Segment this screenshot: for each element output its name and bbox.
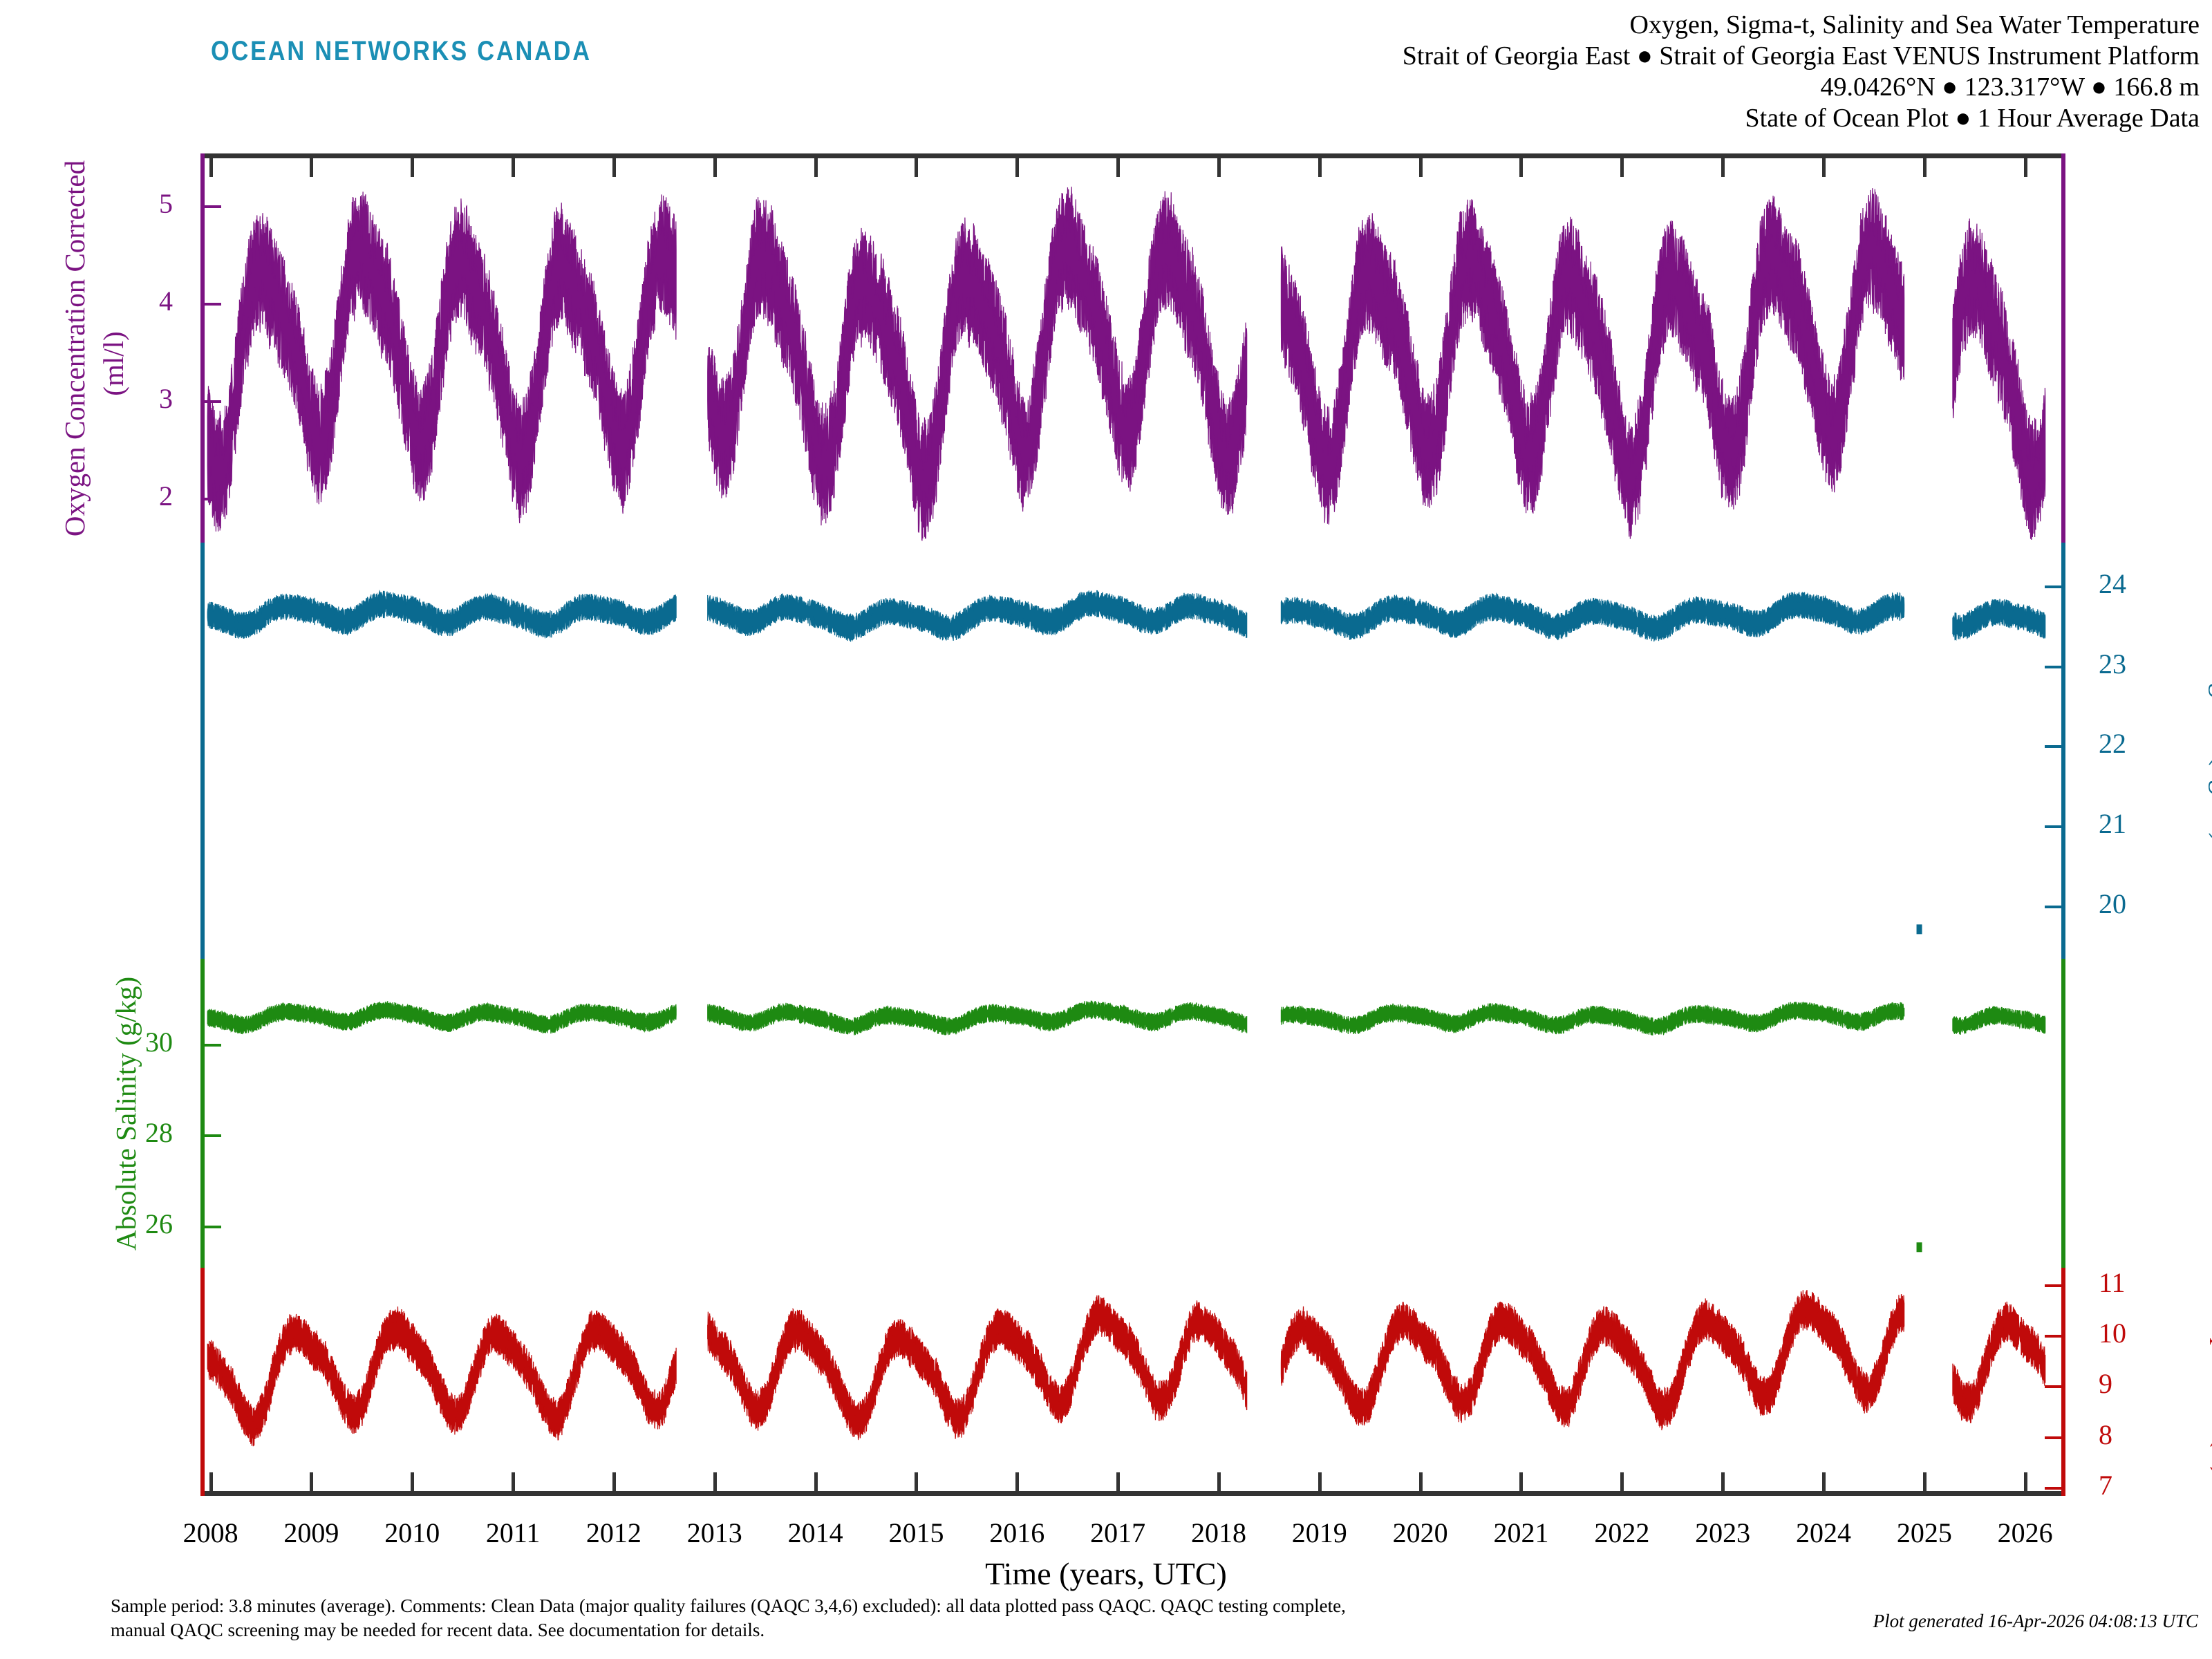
temperature-tick [2045, 1284, 2065, 1287]
plot-top-spine [200, 153, 2065, 158]
oxygen-tick [200, 400, 221, 403]
oxygen-trace [207, 187, 2045, 541]
x-axis-tick [1015, 153, 1019, 177]
sigma_t-tick [2045, 825, 2065, 828]
x-axis-tick-bottom [1015, 1472, 1019, 1496]
sigma_t-axis-spine [2061, 543, 2065, 959]
x-axis-tick [612, 153, 616, 177]
oxygen-tick [200, 303, 221, 306]
temperature-tick-label: 10 [2099, 1317, 2195, 1349]
oxygen-axis-spine [200, 153, 205, 543]
x-axis-tick [411, 153, 414, 177]
x-axis-tick-bottom [411, 1472, 414, 1496]
x-axis-tick-bottom [209, 1472, 213, 1496]
temperature-tick [2045, 1487, 2065, 1490]
sigma_t-series [207, 590, 2045, 934]
x-axis-tick-bottom [612, 1472, 616, 1496]
x-axis-tick [1519, 153, 1523, 177]
x-axis-tick [310, 153, 313, 177]
footnote-text: Sample period: 3.8 minutes (average). Co… [111, 1594, 1346, 1642]
x-axis-tick-bottom [814, 1472, 818, 1496]
chart-title-line-3: 49.0426°N ● 123.317°W ● 166.8 m [1403, 72, 2200, 103]
x-axis-tick-bottom [2024, 1472, 2027, 1496]
sigma_t-tick-label: 22 [2099, 727, 2195, 760]
absolute_salinity-tick [200, 1044, 221, 1047]
sigma_t-tick-label: 20 [2099, 888, 2195, 920]
sigma_t-tick [2045, 666, 2065, 668]
oxygen-tick [200, 205, 221, 208]
absolute_salinity-series [207, 1001, 2045, 1253]
x-axis-tick [1116, 153, 1120, 177]
sigma_t-outlier-point [1917, 924, 1922, 934]
data-series-layer [200, 153, 2065, 1496]
x-axis-tick-bottom [1620, 1472, 1624, 1496]
x-axis-tick-bottom [713, 1472, 717, 1496]
absolute_salinity-tick [200, 1226, 221, 1228]
x-axis-tick [1318, 153, 1322, 177]
x-axis-tick-bottom [1217, 1472, 1221, 1496]
absolute_salinity-axis-spine-mirror [2061, 959, 2065, 1268]
temperature-series [207, 1290, 2045, 1446]
absolute_salinity-tick [200, 1134, 221, 1137]
sigma_t-axis-spine-mirror [200, 543, 205, 959]
x-axis-tick-bottom [1419, 1472, 1423, 1496]
x-axis-tick-bottom [1318, 1472, 1322, 1496]
plot-area [200, 153, 2065, 1496]
sigma_t-tick [2045, 585, 2065, 588]
sigma_t-tick-label: 24 [2099, 568, 2195, 600]
x-axis-tick-bottom [1519, 1472, 1523, 1496]
temperature-axis-title: Temperature (C) [2209, 1288, 2212, 1475]
x-axis-tick [1217, 153, 1221, 177]
x-axis-tick [1721, 153, 1725, 177]
x-axis-tick-label: 2026 [1963, 1517, 2088, 1549]
sigma_t-tick [2045, 906, 2065, 908]
oxygen-tick [200, 498, 221, 500]
temperature-tick-label: 7 [2099, 1469, 2195, 1501]
temperature-tick-label: 11 [2099, 1266, 2195, 1299]
plot-bottom-spine [200, 1491, 2065, 1496]
chart-title-line-1: Oxygen, Sigma-t, Salinity and Sea Water … [1403, 10, 2200, 41]
chart-page: OCEAN NETWORKS CANADA Oxygen, Sigma-t, S… [0, 0, 2212, 1659]
absolute_salinity-outlier-point [1917, 1242, 1922, 1252]
temperature-axis-spine [2061, 1268, 2065, 1496]
temperature-tick [2045, 1385, 2065, 1388]
sigma-t-axis-title: Sigma-t (kg/m³) [2208, 659, 2212, 842]
footnote-line-2: manual QAQC screening may be needed for … [111, 1618, 1346, 1642]
x-axis-tick-bottom [310, 1472, 313, 1496]
x-axis-tick [1822, 153, 1826, 177]
chart-title-line-4: State of Ocean Plot ● 1 Hour Average Dat… [1403, 103, 2200, 134]
absolute_salinity-trace [207, 1001, 2045, 1035]
oxygen-tick-label: 5 [90, 187, 173, 220]
x-axis-tick-bottom [915, 1472, 918, 1496]
temperature-axis-spine-mirror [200, 1268, 205, 1496]
x-axis-title: Time (years, UTC) [0, 1555, 2212, 1592]
footnote-line-1: Sample period: 3.8 minutes (average). Co… [111, 1594, 1346, 1618]
x-axis-tick [1620, 153, 1624, 177]
oxygen-tick-label: 2 [90, 480, 173, 512]
salinity-axis-title: Absolute Salinity (g/kg) [109, 976, 142, 1250]
x-axis-tick [2024, 153, 2027, 177]
x-axis-tick [209, 153, 213, 177]
temperature-tick [2045, 1335, 2065, 1338]
temperature-tick-label: 8 [2099, 1418, 2195, 1451]
x-axis-tick [512, 153, 515, 177]
oxygen-axis-units: (ml/l) [97, 331, 130, 395]
x-axis-tick-bottom [1116, 1472, 1120, 1496]
x-axis-tick [814, 153, 818, 177]
temperature-tick-label: 9 [2099, 1367, 2195, 1400]
ocean-networks-canada-logo: OCEAN NETWORKS CANADA [211, 36, 592, 67]
x-axis-tick-bottom [512, 1472, 515, 1496]
x-axis-tick-bottom [1923, 1472, 1927, 1496]
plot-generated-timestamp: Plot generated 16-Apr-2026 04:08:13 UTC [1873, 1611, 2198, 1632]
title-block: Oxygen, Sigma-t, Salinity and Sea Water … [1403, 10, 2200, 134]
x-axis-tick-bottom [1721, 1472, 1725, 1496]
absolute_salinity-axis-spine [200, 959, 205, 1268]
chart-title-line-2: Strait of Georgia East ● Strait of Georg… [1403, 41, 2200, 72]
x-axis-tick [1419, 153, 1423, 177]
sigma_t-trace [207, 590, 2045, 641]
x-axis-tick [915, 153, 918, 177]
oxygen-axis-title: Oxygen Concentration Corrected [58, 160, 91, 536]
oxygen-series [207, 187, 2045, 541]
x-axis-tick [1923, 153, 1927, 177]
sigma_t-tick-label: 23 [2099, 648, 2195, 680]
sigma_t-tick [2045, 745, 2065, 748]
sigma_t-tick-label: 21 [2099, 807, 2195, 840]
temperature-trace [207, 1290, 2045, 1446]
temperature-tick [2045, 1436, 2065, 1439]
oxygen-tick-label: 4 [90, 285, 173, 317]
oxygen-axis-spine-mirror [2061, 153, 2065, 543]
x-axis-tick-bottom [1822, 1472, 1826, 1496]
x-axis-tick [713, 153, 717, 177]
